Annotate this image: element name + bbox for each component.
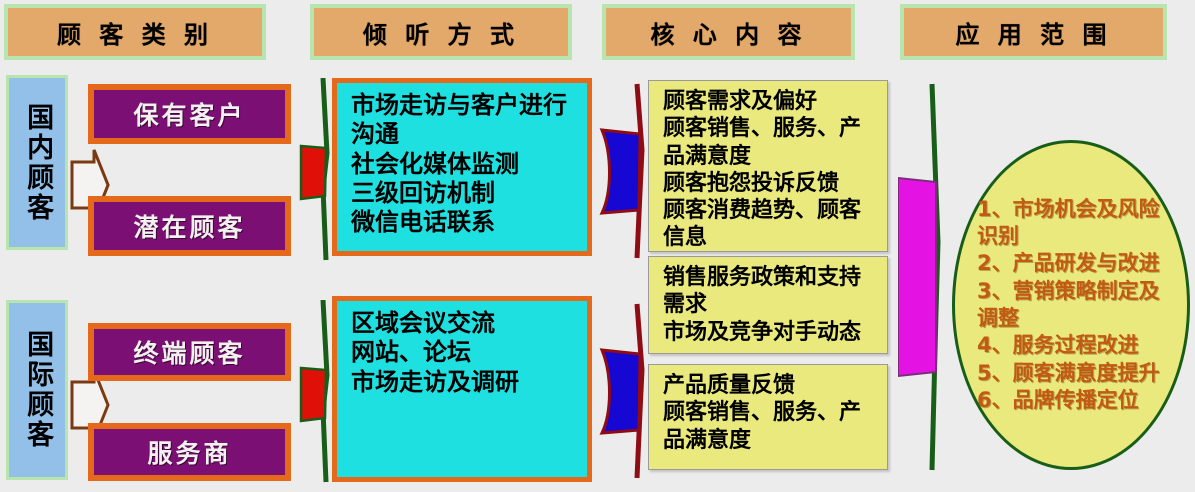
listening-method-box-bottom: 区域会议交流 网站、论坛 市场走访及调研 — [332, 296, 592, 482]
item-number: 5、 — [977, 361, 1013, 385]
item-number: 2、 — [977, 251, 1013, 275]
application-scope-item-cont: 调整 — [977, 305, 1160, 332]
header-customer-category: 顾 客 类 别 — [4, 4, 266, 60]
item-text: 市场机会及风险 — [1013, 197, 1160, 221]
item-text: 顾客满意度提升 — [1013, 361, 1160, 385]
category-domestic-customers: 国内顾客 — [6, 75, 68, 250]
listening-method-box-top: 市场走访与客户进行 沟通 社会化媒体监测 三级回访机制 微信电话联系 — [332, 78, 592, 256]
listening-line: 区域会议交流 — [351, 309, 575, 338]
item-text: 品牌传播定位 — [1013, 388, 1139, 412]
subcategory-potential-customers: 潜在顾客 — [88, 196, 291, 256]
core-content-line: 需求 — [663, 291, 879, 318]
subcategory-existing-customers: 保有客户 — [88, 84, 291, 144]
connector-blue-bracket-top — [596, 82, 652, 262]
core-content-line: 销售服务政策和支持 — [663, 264, 879, 291]
core-content-line: 品满意度 — [663, 427, 879, 454]
diagram-canvas: 顾 客 类 别 倾 听 方 式 核 心 内 容 应 用 范 围 国内顾客 国际顾… — [0, 0, 1195, 492]
connector-blue-bracket-bottom — [596, 302, 652, 482]
application-scope-item: 2、产品研发与改进 — [977, 250, 1160, 277]
core-content-line: 顾客销售、服务、产 — [663, 115, 879, 142]
listening-line: 微信电话联系 — [351, 208, 575, 237]
core-content-line: 产品质量反馈 — [663, 372, 879, 399]
core-content-line: 顾客抱怨投诉反馈 — [663, 170, 879, 197]
application-scope-item: 6、品牌传播定位 — [977, 387, 1160, 414]
item-number: 4、 — [977, 333, 1013, 357]
listening-line: 社会化媒体监测 — [351, 150, 575, 179]
core-content-line: 市场及竞争对手动态 — [663, 319, 879, 346]
listening-line: 市场走访与客户进行 — [351, 91, 575, 120]
listening-line: 沟通 — [351, 120, 575, 149]
header-listening-method: 倾 听 方 式 — [310, 4, 572, 60]
header-application-scope: 应 用 范 围 — [900, 4, 1167, 60]
core-content-line: 信息 — [663, 224, 879, 251]
listening-line: 市场走访及调研 — [351, 368, 575, 397]
core-content-box-3: 产品质量反馈 顾客销售、服务、产 品满意度 — [648, 364, 888, 470]
application-scope-item: 3、营销策略制定及 — [977, 278, 1160, 305]
application-scope-item: 1、市场机会及风险 — [977, 196, 1160, 223]
header-core-content: 核 心 内 容 — [602, 4, 855, 60]
listening-line: 三级回访机制 — [351, 179, 575, 208]
application-scope-item: 5、顾客满意度提升 — [977, 360, 1160, 387]
connector-magenta-bracket — [898, 82, 950, 472]
application-scope-item: 4、服务过程改进 — [977, 332, 1160, 359]
application-scope-ellipse: 1、市场机会及风险 识别 2、产品研发与改进 3、营销策略制定及 调整 4、服务… — [952, 140, 1190, 470]
item-number: 6、 — [977, 388, 1013, 412]
core-content-box-2: 销售服务政策和支持 需求 市场及竞争对手动态 — [648, 256, 888, 354]
item-text: 产品研发与改进 — [1013, 251, 1160, 275]
item-text: 营销策略制定及 — [1013, 279, 1160, 303]
application-scope-item-cont: 识别 — [977, 223, 1160, 250]
item-text: 服务过程改进 — [1013, 333, 1139, 357]
application-scope-list: 1、市场机会及风险 识别 2、产品研发与改进 3、营销策略制定及 调整 4、服务… — [955, 196, 1170, 414]
core-content-line: 品满意度 — [663, 143, 879, 170]
core-content-line: 顾客销售、服务、产 — [663, 399, 879, 426]
subcategory-service-providers: 服务商 — [88, 423, 291, 481]
core-content-line: 顾客需求及偏好 — [663, 88, 879, 115]
item-number: 1、 — [977, 197, 1013, 221]
subcategory-end-customers: 终端顾客 — [88, 323, 291, 381]
listening-line: 网站、论坛 — [351, 338, 575, 367]
category-international-customers: 国际顾客 — [6, 300, 68, 480]
core-content-box-1: 顾客需求及偏好 顾客销售、服务、产 品满意度 顾客抱怨投诉反馈 顾客消费趋势、顾… — [648, 80, 888, 252]
item-number: 3、 — [977, 279, 1013, 303]
core-content-line: 顾客消费趋势、顾客 — [663, 197, 879, 224]
